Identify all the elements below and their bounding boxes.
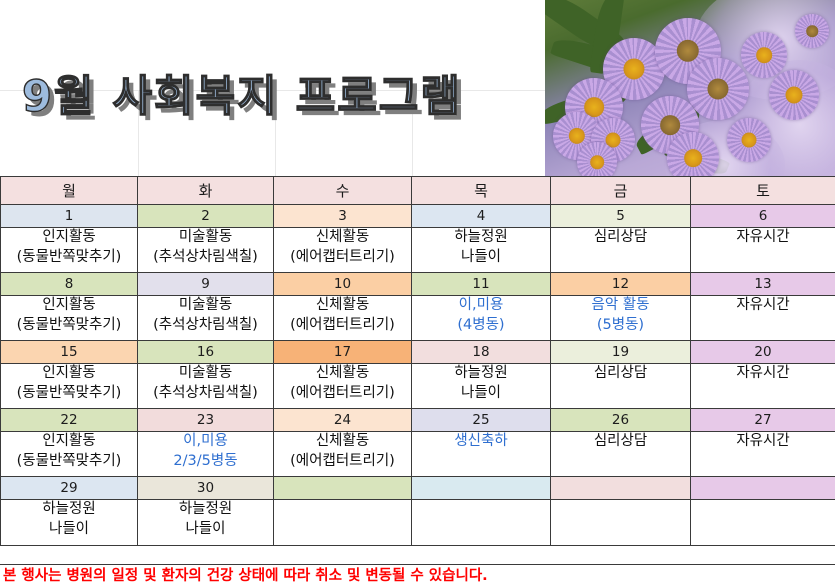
day-number-cell[interactable]: 12 [551, 273, 691, 296]
day-content-cell[interactable]: 이,미용2/3/5병동 [138, 432, 274, 477]
calendar-content-row: 인지활동(동물반쪽맞추기)이,미용2/3/5병동신체활동(에어캡터트리기)생신축… [1, 432, 835, 477]
calendar-date-row: 123456 [1, 205, 835, 228]
calendar-content-row: 인지활동(동물반쪽맞추기)미술활동(추석상차림색칠)신체활동(에어캡터트리기)하… [1, 364, 835, 409]
day-number-cell[interactable] [551, 477, 691, 500]
day-content-cell[interactable]: 인지활동(동물반쪽맞추기) [1, 228, 138, 273]
day-content-cell[interactable]: 인지활동(동물반쪽맞추기) [1, 364, 138, 409]
activity-line: (추석상차림색칠) [138, 384, 273, 404]
day-content-cell[interactable] [691, 500, 835, 546]
day-number-cell[interactable]: 27 [691, 409, 835, 432]
day-number-cell[interactable]: 8 [1, 273, 138, 296]
activity-line: 인지활동 [1, 296, 137, 316]
aster-flowers-photo [545, 0, 835, 176]
activity-line: (동물반쪽맞추기) [1, 452, 137, 472]
activity-line: (추석상차림색칠) [138, 248, 273, 268]
day-number-cell[interactable]: 3 [274, 205, 412, 228]
day-content-cell[interactable]: 심리상담 [551, 432, 691, 477]
day-number-cell[interactable]: 15 [1, 341, 138, 364]
day-number-cell[interactable]: 23 [138, 409, 274, 432]
day-content-cell[interactable]: 신체활동(에어캡터트리기) [274, 364, 412, 409]
day-number-cell[interactable]: 22 [1, 409, 138, 432]
activity-line: 나들이 [412, 248, 550, 268]
dow-header-tue: 화 [138, 177, 274, 205]
day-number-cell[interactable]: 18 [412, 341, 551, 364]
calendar-content-row: 인지활동(동물반쪽맞추기)미술활동(추석상차림색칠)신체활동(에어캡터트리기)하… [1, 228, 835, 273]
day-content-cell[interactable]: 자유시간 [691, 364, 835, 409]
dow-header-sat: 토 [691, 177, 835, 205]
calendar-date-row: 2930 [1, 477, 835, 500]
disclaimer-note: 본 행사는 병원의 일정 및 환자의 건강 상태에 따라 취소 및 변동될 수 … [0, 564, 835, 587]
day-content-cell[interactable] [412, 500, 551, 546]
day-number-cell[interactable] [691, 477, 835, 500]
day-content-cell[interactable]: 하늘정원나들이 [412, 364, 551, 409]
day-number-cell[interactable] [274, 477, 412, 500]
day-content-cell[interactable]: 심리상담 [551, 364, 691, 409]
day-number-cell[interactable]: 30 [138, 477, 274, 500]
activity-line: 심리상담 [551, 432, 690, 452]
day-number-cell[interactable]: 6 [691, 205, 835, 228]
program-calendar: 월 화 수 목 금 토 123456인지활동(동물반쪽맞추기)미술활동(추석상차… [0, 176, 835, 546]
day-number-cell[interactable]: 9 [138, 273, 274, 296]
day-content-cell[interactable]: 자유시간 [691, 296, 835, 341]
activity-line: 생신축하 [412, 432, 550, 452]
day-number-cell[interactable]: 26 [551, 409, 691, 432]
activity-line: (에어캡터트리기) [274, 452, 411, 472]
activity-line: 신체활동 [274, 364, 411, 384]
activity-line: 인지활동 [1, 432, 137, 452]
day-content-cell[interactable] [274, 500, 412, 546]
activity-line: 하늘정원 [412, 228, 550, 248]
activity-line: 하늘정원 [1, 500, 137, 520]
activity-line: 자유시간 [691, 228, 835, 248]
day-content-cell[interactable]: 신체활동(에어캡터트리기) [274, 296, 412, 341]
day-content-cell[interactable]: 신체활동(에어캡터트리기) [274, 432, 412, 477]
activity-line: 심리상담 [551, 228, 690, 248]
day-number-cell[interactable]: 20 [691, 341, 835, 364]
activity-line: 미술활동 [138, 364, 273, 384]
calendar-date-row: 8910111213 [1, 273, 835, 296]
activity-line: (에어캡터트리기) [274, 248, 411, 268]
activity-line: (동물반쪽맞추기) [1, 316, 137, 336]
activity-line: 신체활동 [274, 296, 411, 316]
day-number-cell[interactable]: 24 [274, 409, 412, 432]
activity-line: (추석상차림색칠) [138, 316, 273, 336]
day-number-cell[interactable]: 19 [551, 341, 691, 364]
day-content-cell[interactable]: 인지활동(동물반쪽맞추기) [1, 432, 138, 477]
dow-header-thu: 목 [412, 177, 551, 205]
day-content-cell[interactable]: 자유시간 [691, 432, 835, 477]
calendar-content-row: 하늘정원나들이하늘정원나들이 [1, 500, 835, 546]
activity-line: (4병동) [412, 316, 550, 336]
day-number-cell[interactable]: 10 [274, 273, 412, 296]
dow-header-mon: 월 [1, 177, 138, 205]
activity-line: (동물반쪽맞추기) [1, 248, 137, 268]
day-number-cell[interactable]: 2 [138, 205, 274, 228]
dow-header-wed: 수 [274, 177, 412, 205]
activity-line: 나들이 [138, 520, 273, 540]
day-number-cell[interactable]: 5 [551, 205, 691, 228]
day-content-cell[interactable]: 하늘정원나들이 [138, 500, 274, 546]
day-of-week-header-row: 월 화 수 목 금 토 [1, 177, 835, 205]
day-number-cell[interactable]: 4 [412, 205, 551, 228]
activity-line: 나들이 [412, 384, 550, 404]
day-content-cell[interactable]: 음악 활동(5병동) [551, 296, 691, 341]
activity-line: (에어캡터트리기) [274, 316, 411, 336]
day-content-cell[interactable]: 하늘정원나들이 [1, 500, 138, 546]
activity-line: (동물반쪽맞추기) [1, 384, 137, 404]
day-content-cell[interactable]: 미술활동(추석상차림색칠) [138, 364, 274, 409]
dow-header-fri: 금 [551, 177, 691, 205]
day-content-cell[interactable]: 인지활동(동물반쪽맞추기) [1, 296, 138, 341]
day-number-cell[interactable]: 16 [138, 341, 274, 364]
day-number-cell[interactable]: 13 [691, 273, 835, 296]
day-content-cell[interactable]: 미술활동(추석상차림색칠) [138, 296, 274, 341]
day-content-cell[interactable]: 심리상담 [551, 228, 691, 273]
activity-line: 인지활동 [1, 364, 137, 384]
activity-line: 이,미용 [138, 432, 273, 452]
day-content-cell[interactable]: 자유시간 [691, 228, 835, 273]
activity-line: 음악 활동 [551, 296, 690, 316]
activity-line: 자유시간 [691, 296, 835, 316]
day-number-cell[interactable] [412, 477, 551, 500]
day-number-cell[interactable]: 17 [274, 341, 412, 364]
day-number-cell[interactable]: 29 [1, 477, 138, 500]
day-number-cell[interactable]: 25 [412, 409, 551, 432]
activity-line: 신체활동 [274, 432, 411, 452]
activity-line: 이,미용 [412, 296, 550, 316]
day-content-cell[interactable]: 신체활동(에어캡터트리기) [274, 228, 412, 273]
day-number-cell[interactable]: 11 [412, 273, 551, 296]
activity-line: (5병동) [551, 316, 690, 336]
calendar-date-row: 222324252627 [1, 409, 835, 432]
day-content-cell[interactable] [551, 500, 691, 546]
activity-line: 하늘정원 [138, 500, 273, 520]
activity-line: 자유시간 [691, 432, 835, 452]
day-content-cell[interactable]: 생신축하 [412, 432, 551, 477]
page-title: 9월 사회복지 프로그램 [22, 62, 462, 124]
calendar-content-row: 인지활동(동물반쪽맞추기)미술활동(추석상차림색칠)신체활동(에어캡터트리기)이… [1, 296, 835, 341]
activity-line: 신체활동 [274, 228, 411, 248]
banner: 9월 사회복지 프로그램 [0, 0, 835, 176]
activity-line: 2/3/5병동 [138, 452, 273, 472]
day-number-cell[interactable]: 1 [1, 205, 138, 228]
day-content-cell[interactable]: 이,미용(4병동) [412, 296, 551, 341]
activity-line: 미술활동 [138, 228, 273, 248]
calendar-date-row: 151617181920 [1, 341, 835, 364]
activity-line: 나들이 [1, 520, 137, 540]
activity-line: 심리상담 [551, 364, 690, 384]
day-content-cell[interactable]: 미술활동(추석상차림색칠) [138, 228, 274, 273]
day-content-cell[interactable]: 하늘정원나들이 [412, 228, 551, 273]
activity-line: 하늘정원 [412, 364, 550, 384]
activity-line: 자유시간 [691, 364, 835, 384]
activity-line: (에어캡터트리기) [274, 384, 411, 404]
activity-line: 인지활동 [1, 228, 137, 248]
activity-line: 미술활동 [138, 296, 273, 316]
